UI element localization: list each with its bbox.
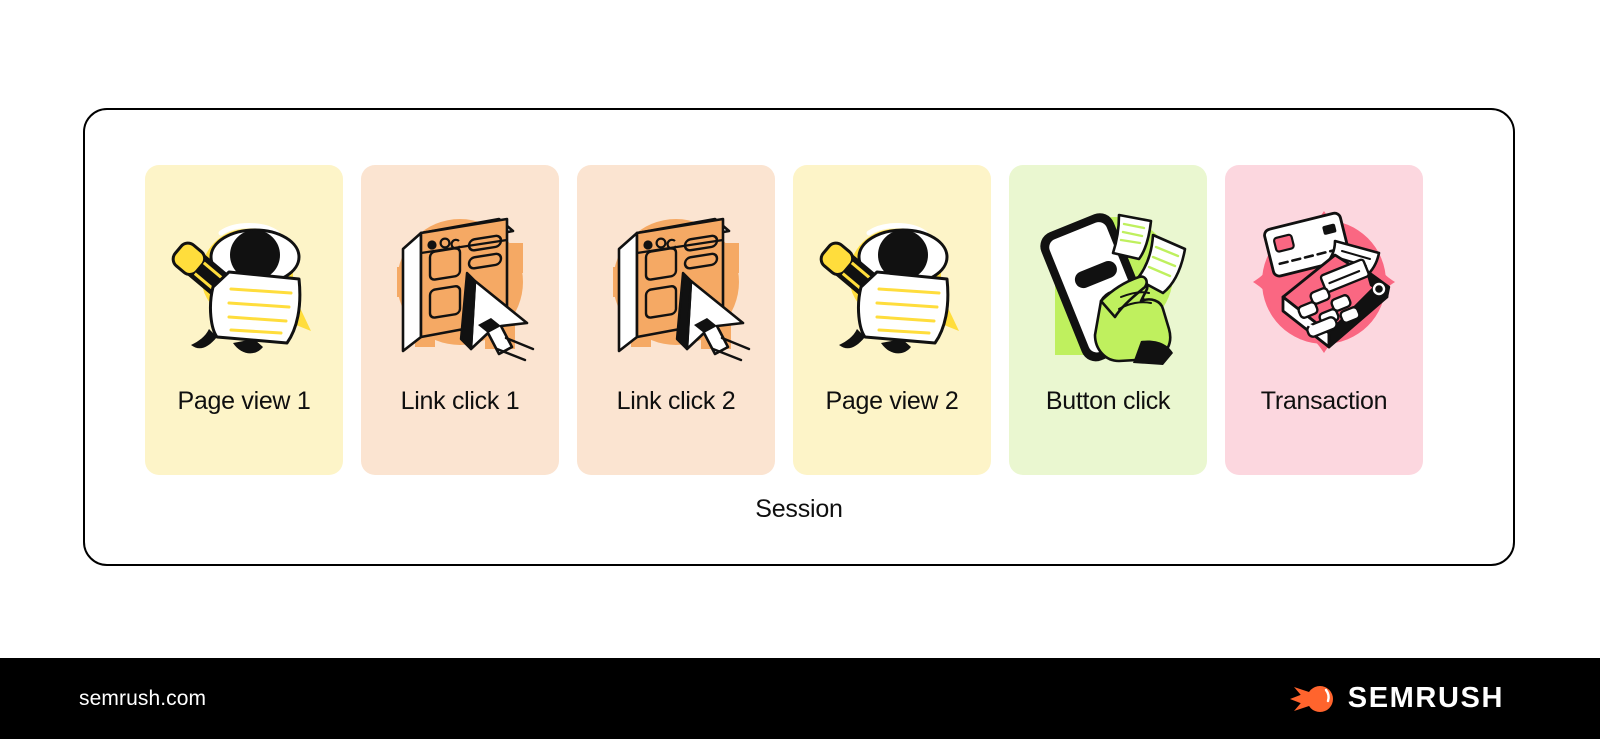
event-card-link-click-2[interactable]: Link click 2 (577, 165, 775, 475)
semrush-wordmark: SEMRUSH (1348, 682, 1504, 715)
session-container: Page view 1 (83, 108, 1515, 566)
transaction-icon (1239, 197, 1409, 367)
event-card-transaction[interactable]: Transaction (1225, 165, 1423, 475)
button-click-icon (1023, 197, 1193, 367)
event-card-label: Link click 1 (361, 387, 559, 416)
event-card-button-click[interactable]: Button click (1009, 165, 1207, 475)
link-click-icon (375, 197, 545, 367)
session-caption: Session (85, 495, 1513, 524)
event-card-label: Link click 2 (577, 387, 775, 416)
footer-bar: semrush.com SEMRUSH (0, 658, 1600, 739)
event-card-link-click-1[interactable]: Link click 1 (361, 165, 559, 475)
event-card-page-view-1[interactable]: Page view 1 (145, 165, 343, 475)
event-cards-row: Page view 1 (145, 165, 1423, 475)
event-card-label: Transaction (1225, 387, 1423, 416)
event-card-label: Page view 2 (793, 387, 991, 416)
semrush-comet-icon (1290, 682, 1336, 716)
event-card-label: Page view 1 (145, 387, 343, 416)
footer-url: semrush.com (79, 687, 206, 711)
page-view-icon (807, 197, 977, 367)
link-click-icon (591, 197, 761, 367)
page-view-icon (159, 197, 329, 367)
diagram-canvas: Page view 1 (0, 0, 1600, 739)
event-card-label: Button click (1009, 387, 1207, 416)
event-card-page-view-2[interactable]: Page view 2 (793, 165, 991, 475)
semrush-brand: SEMRUSH (1290, 682, 1504, 716)
